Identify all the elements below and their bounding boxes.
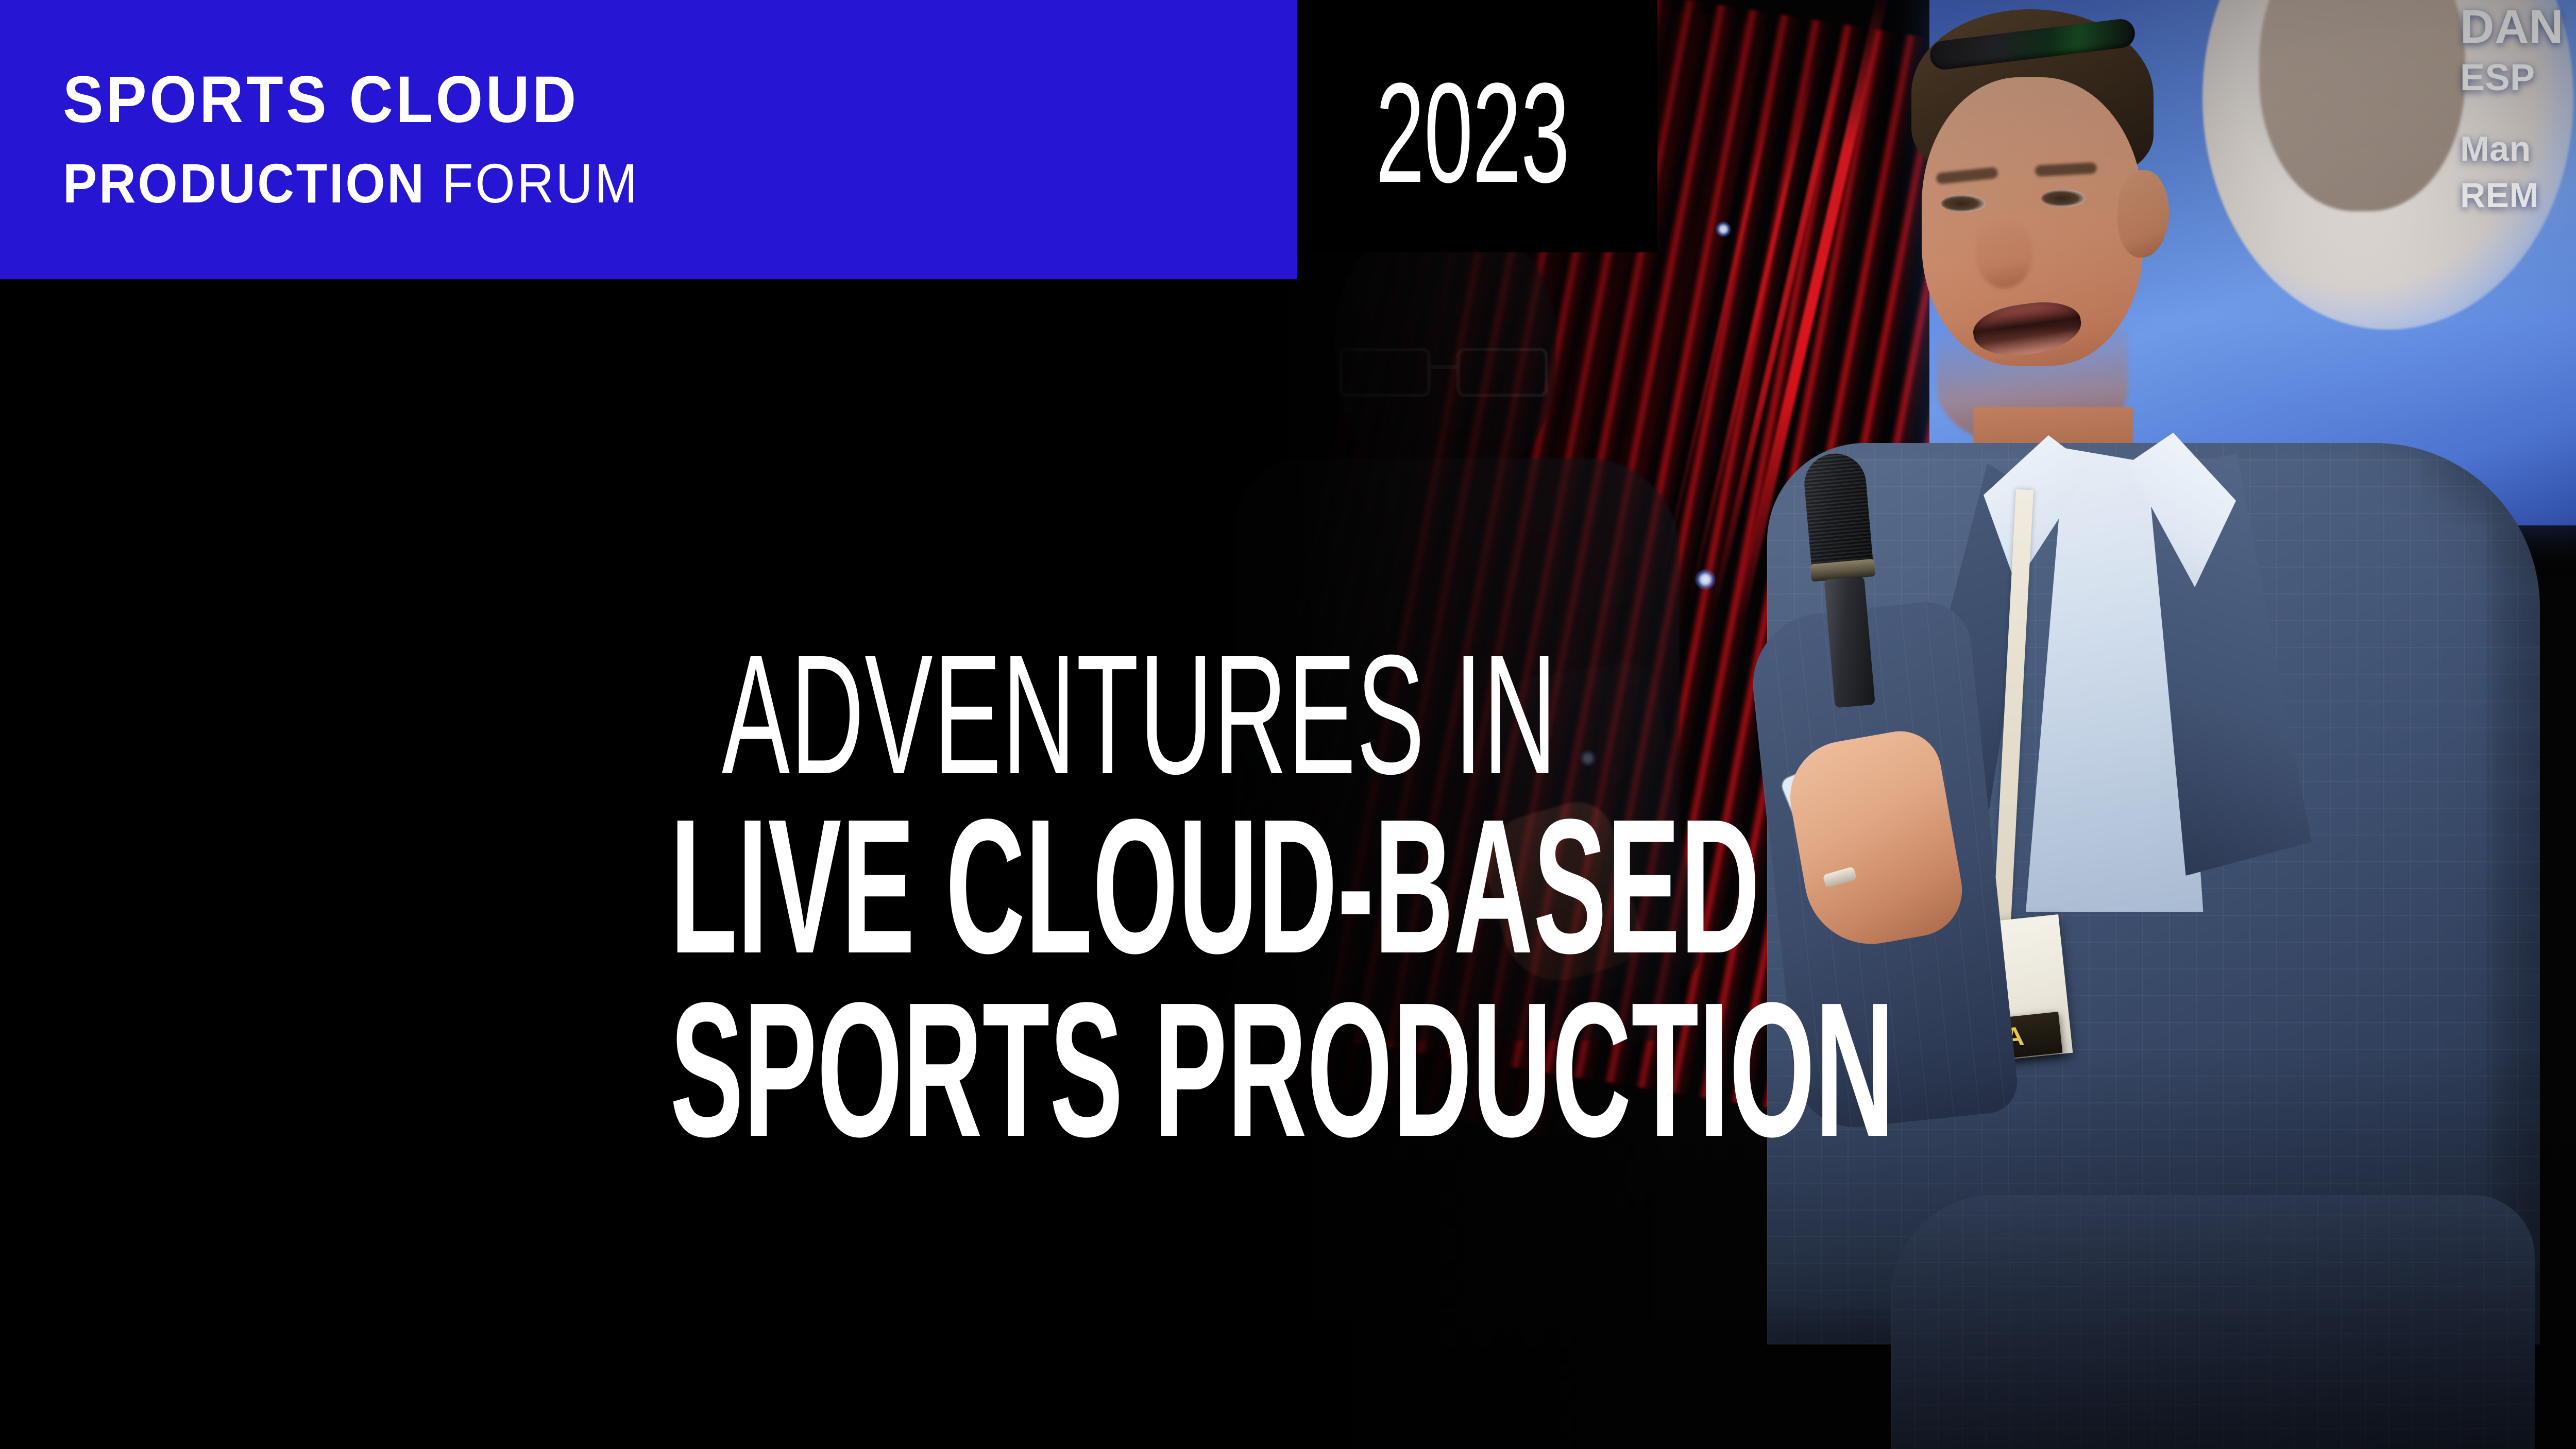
speaker-lap bbox=[1891, 1195, 2535, 1449]
speaker-nose bbox=[1976, 221, 2032, 288]
title-line-3: SPORTS PRODUCTION bbox=[670, 981, 1577, 1157]
logo-word-forum: FORUM bbox=[426, 152, 639, 214]
logo-word-production: PRODUCTION bbox=[63, 152, 426, 214]
speaker-ear bbox=[2117, 170, 2169, 258]
presentation-title-card: DAN ESP Man REM bbox=[0, 0, 2576, 1449]
floor-light-reflection bbox=[799, 1257, 963, 1308]
event-logo-banner: SPORTS CLOUD PRODUCTION FORUM bbox=[0, 0, 1297, 279]
speaker-person: SPEA bbox=[1695, 0, 2576, 1449]
event-year: 2023 bbox=[1376, 62, 1569, 204]
speaker-eye bbox=[1941, 195, 1986, 212]
glasses-icon bbox=[1337, 348, 1553, 397]
floor-light-reflection bbox=[469, 1257, 623, 1303]
logo-line-sports-cloud: SPORTS CLOUD bbox=[63, 67, 579, 133]
title-line-2: LIVE CLOUD-BASED bbox=[670, 798, 1577, 974]
floor-light-reflection bbox=[665, 1272, 809, 1314]
title-line-1: ADVENTURES IN bbox=[631, 636, 1577, 793]
logo-line-production-forum: PRODUCTION FORUM bbox=[63, 156, 639, 211]
speaker-eye bbox=[2041, 190, 2086, 207]
session-title: ADVENTURES IN LIVE CLOUD-BASED SPORTS PR… bbox=[0, 636, 1577, 1157]
